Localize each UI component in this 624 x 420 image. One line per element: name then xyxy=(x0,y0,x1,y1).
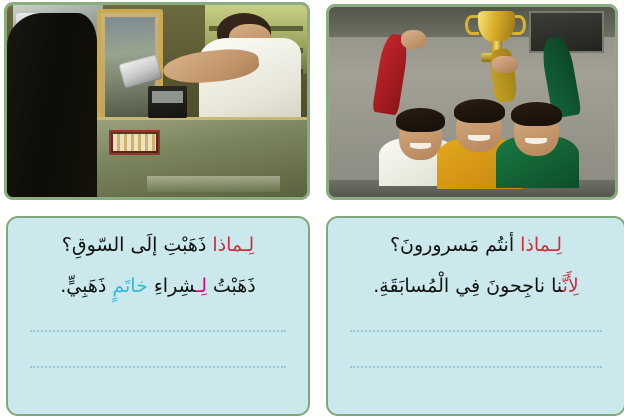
blank-writing-line[interactable] xyxy=(350,366,602,368)
blank-writing-line[interactable] xyxy=(30,366,286,368)
writing-area-left[interactable] xyxy=(30,330,286,402)
hand-holding-trophy xyxy=(492,56,518,73)
answer-keyword-lianna: لِأَنَّ xyxy=(563,275,579,297)
question-line-left: لِـماذا ذَهَبْتِ إلَى السّوقِ؟ xyxy=(8,236,308,255)
trophy-handle-left xyxy=(465,15,479,36)
answer-line-left: ذَهَبْتُ لِـشِراءِ خاتَمٍ ذَهَبِيٍّ. xyxy=(8,277,308,296)
boy-head xyxy=(399,114,442,160)
boy-head xyxy=(514,108,560,155)
answer-text-part2: شِراءِ xyxy=(148,275,196,297)
boy-hair xyxy=(511,102,562,127)
gold-bracelets xyxy=(113,134,156,151)
cash-register xyxy=(148,86,187,119)
boy-head xyxy=(456,105,502,152)
writing-area-right[interactable] xyxy=(350,330,602,402)
question-text: أنتُم مَسرورونَ؟ xyxy=(390,234,520,256)
boy-hair xyxy=(454,99,505,124)
worksheet-page: لِـماذا ذَهَبْتِ إلَى السّوقِ؟ ذَهَبْتُ … xyxy=(0,0,624,420)
boy-smile xyxy=(410,143,431,149)
question-keyword: لِـماذا xyxy=(212,234,254,256)
boy-hair xyxy=(396,108,444,132)
boy-smile xyxy=(468,135,490,141)
blank-writing-line[interactable] xyxy=(350,330,602,332)
answer-keyword-lam: لِـ xyxy=(196,275,207,297)
jewellery-tray xyxy=(109,130,160,155)
answer-text-part1: ذَهَبْتُ xyxy=(207,275,256,297)
photo-jewellery-shop-content xyxy=(7,5,307,197)
answer-line-right: لِأَنَّنا ناجِحونَ فِي الْمُسابَقَةِ. xyxy=(328,277,624,296)
answer-keyword-ring: خاتَمٍ xyxy=(112,275,147,297)
question-text: ذَهَبْتِ إلَى السّوقِ؟ xyxy=(62,234,213,256)
boy-in-green xyxy=(509,89,563,188)
photo-boys-with-trophy xyxy=(326,4,618,200)
exercise-box-left: لِـماذا ذَهَبْتِ إلَى السّوقِ؟ ذَهَبْتُ … xyxy=(6,216,310,416)
raised-fist xyxy=(401,30,427,49)
exercise-box-right: لِـماذا أنتُم مَسرورونَ؟ لِأَنَّنا ناجِح… xyxy=(326,216,624,416)
customer-abaya xyxy=(7,13,97,197)
answer-text-part3: ذَهَبِيٍّ. xyxy=(60,275,112,297)
counter-glass xyxy=(147,176,280,193)
question-keyword: لِـماذا xyxy=(520,234,562,256)
blank-writing-line[interactable] xyxy=(30,330,286,332)
answer-text-part2: نا ناجِحونَ فِي الْمُسابَقَةِ. xyxy=(373,275,562,297)
cash-register-screen xyxy=(152,91,183,102)
question-line-right: لِـماذا أنتُم مَسرورونَ؟ xyxy=(328,236,624,255)
photo-boys-with-trophy-content xyxy=(329,7,615,197)
photo-jewellery-shop xyxy=(4,2,310,200)
